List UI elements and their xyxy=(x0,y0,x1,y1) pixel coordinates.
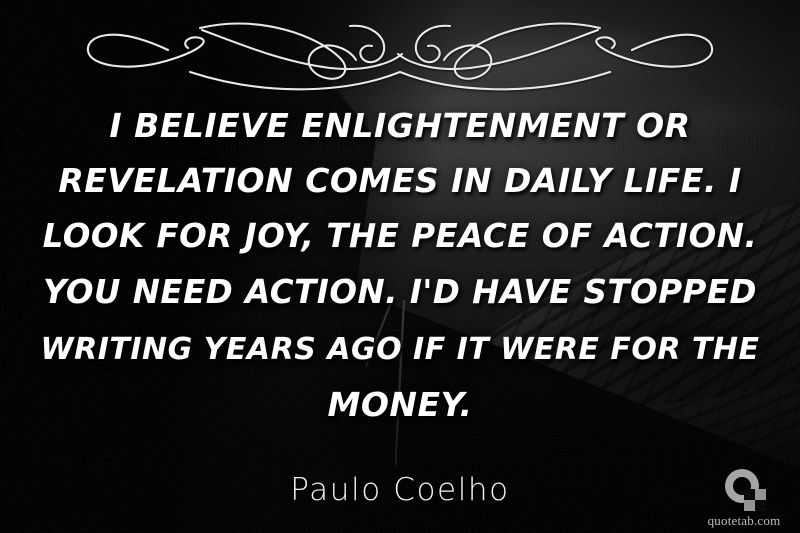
quote-line: writing years ago if it were for the xyxy=(41,322,760,377)
quote-line: You need action. I'd have stopped xyxy=(43,265,757,320)
quotetab-logo-icon[interactable] xyxy=(722,467,766,511)
quote-line: I believe enlightenment or xyxy=(109,98,690,153)
quote-line: look for joy, the peace of action. xyxy=(43,209,758,264)
quote-line: money. xyxy=(327,377,472,432)
quote-text: I believe enlightenment or revelation co… xyxy=(40,98,760,432)
quote-card: I believe enlightenment or revelation co… xyxy=(0,0,800,533)
quote-line: revelation comes in daily life. I xyxy=(58,153,741,208)
watermark[interactable]: quotetab.com xyxy=(696,467,792,529)
watermark-site-label[interactable]: quotetab.com xyxy=(696,513,792,529)
decorative-flourish-icon xyxy=(50,6,750,92)
quote-author: Paulo Coelho xyxy=(0,472,800,508)
